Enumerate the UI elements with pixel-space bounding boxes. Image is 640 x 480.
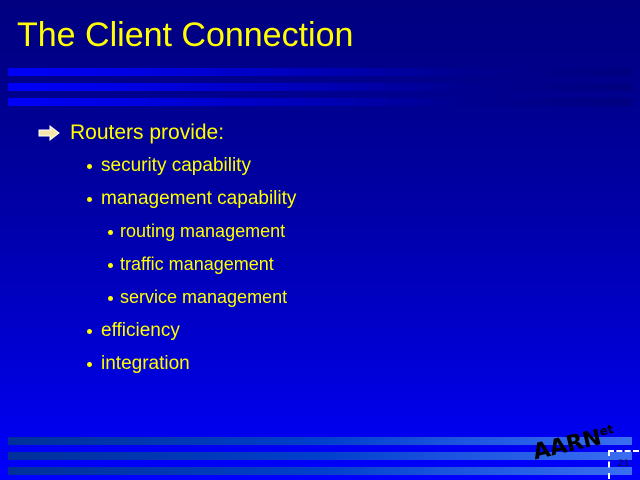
header-gradient-bar-2 — [8, 83, 632, 91]
round-bullet-icon — [108, 230, 113, 235]
slide-canvas: The Client Connection Routers provide: s… — [0, 0, 640, 480]
bullet-text: management capability — [101, 182, 296, 215]
page-number: 21 — [618, 459, 629, 469]
header-gradient-bar-1 — [8, 68, 632, 76]
bullet-item-level2: security capability — [0, 149, 640, 182]
bullet-text: Routers provide: — [70, 116, 224, 149]
bullet-text: traffic management — [120, 248, 274, 281]
arrow-right-bullet-icon — [38, 125, 60, 141]
bullet-text: security capability — [101, 149, 251, 182]
round-bullet-icon — [87, 197, 92, 202]
aarnet-logo-suffix: et — [598, 422, 615, 439]
bullet-item-level2: integration — [0, 347, 640, 380]
slide-title: The Client Connection — [17, 15, 353, 55]
round-bullet-icon — [87, 164, 92, 169]
bullet-text: efficiency — [101, 314, 180, 347]
bullet-item-level2: management capability — [0, 182, 640, 215]
bullet-item-level1: Routers provide: — [0, 116, 640, 149]
bullet-text: routing management — [120, 215, 285, 248]
footer-gradient-bar-3 — [8, 467, 632, 475]
bullet-item-level3: traffic management — [0, 248, 640, 281]
slide-body: Routers provide: security capability man… — [0, 116, 640, 380]
round-bullet-icon — [87, 329, 92, 334]
bullet-item-level2: efficiency — [0, 314, 640, 347]
bullet-item-level3: service management — [0, 281, 640, 314]
page-number-box: 21 — [608, 450, 639, 479]
aarnet-logo-main: AARN — [531, 425, 604, 465]
round-bullet-icon — [108, 263, 113, 268]
bullet-item-level3: routing management — [0, 215, 640, 248]
bullet-text: service management — [120, 281, 287, 314]
aarnet-logo: AARNet — [536, 430, 602, 466]
header-gradient-bar-3 — [8, 98, 632, 106]
bullet-text: integration — [101, 347, 190, 380]
round-bullet-icon — [108, 296, 113, 301]
round-bullet-icon — [87, 362, 92, 367]
